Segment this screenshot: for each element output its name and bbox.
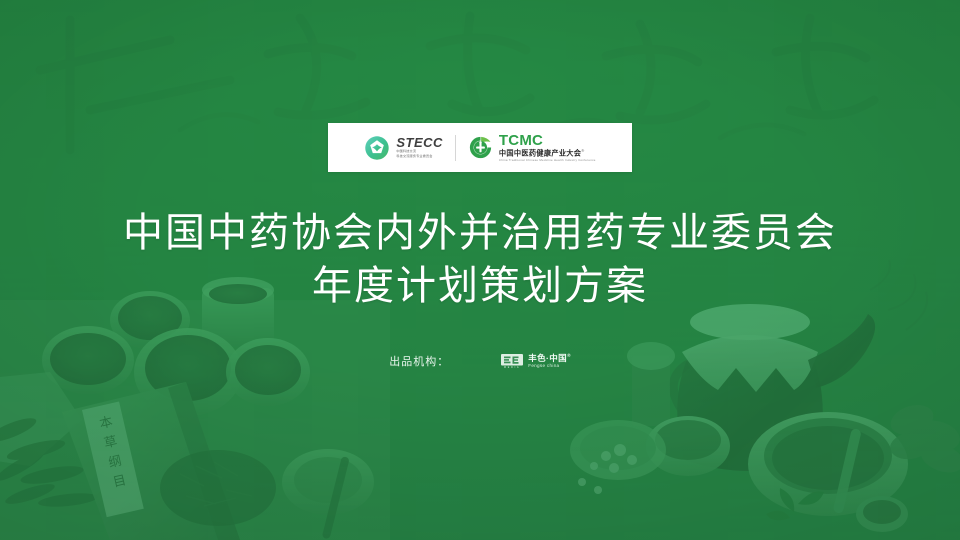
tcmc-chinese-name-text: 中国中医药健康产业大会 [499, 148, 581, 157]
stecc-wordmark: STECC [396, 136, 443, 149]
stecc-subtitle-line-2: 科技交流服务专业委员会 [396, 154, 443, 159]
logo-bar: STECC 中国科技交流 科技交流服务专业委员会 TCMC 中国中医药 [328, 123, 632, 172]
tcmc-logo: TCMC 中国中医药健康产业大会® China Traditional Chin… [456, 133, 608, 162]
producer-row: 出品机构： M E D I A 丰色·中国® Fengse china [0, 353, 960, 369]
tcmc-wordmark: TCMC [499, 133, 596, 148]
tcmc-text-block: TCMC 中国中医药健康产业大会® China Traditional Chin… [499, 133, 596, 162]
title-line-1: 中国中药协会内外并治用药专业委员会 [0, 206, 960, 259]
stecc-pentagon-ring-icon [364, 135, 390, 161]
page-title: 中国中药协会内外并治用药专业委员会 年度计划策划方案 [0, 206, 960, 312]
presentation-cover-slide: 本 草 纲 目 [0, 0, 960, 540]
tcmc-circle-cross-icon [468, 135, 493, 160]
tcmc-chinese-name: 中国中医药健康产业大会® [499, 148, 596, 158]
fs-registered-mark: ® [567, 353, 571, 358]
svg-text:M E D I A: M E D I A [504, 366, 519, 369]
slide-content: STECC 中国科技交流 科技交流服务专业委员会 TCMC 中国中医药 [0, 0, 960, 540]
fs-english-name: Fengse china [528, 364, 571, 369]
tcmc-english-name: China Traditional Chinese Medicine Healt… [499, 158, 596, 162]
stecc-logo: STECC 中国科技交流 科技交流服务专业委员会 [352, 135, 455, 161]
producer-logo: M E D I A 丰色·中国® Fengse china [501, 354, 571, 369]
fs-text-block: 丰色·中国® Fengse china [528, 354, 571, 369]
tcmc-registered-mark: ® [581, 148, 584, 153]
fs-monogram-icon: M E D I A [501, 354, 523, 369]
producer-label: 出品机构： [389, 353, 449, 369]
fs-chinese-name: 丰色·中国® [528, 354, 571, 363]
title-line-2: 年度计划策划方案 [0, 259, 960, 312]
stecc-text-block: STECC 中国科技交流 科技交流服务专业委员会 [396, 136, 443, 158]
fs-chinese-name-text: 丰色·中国 [528, 353, 567, 363]
